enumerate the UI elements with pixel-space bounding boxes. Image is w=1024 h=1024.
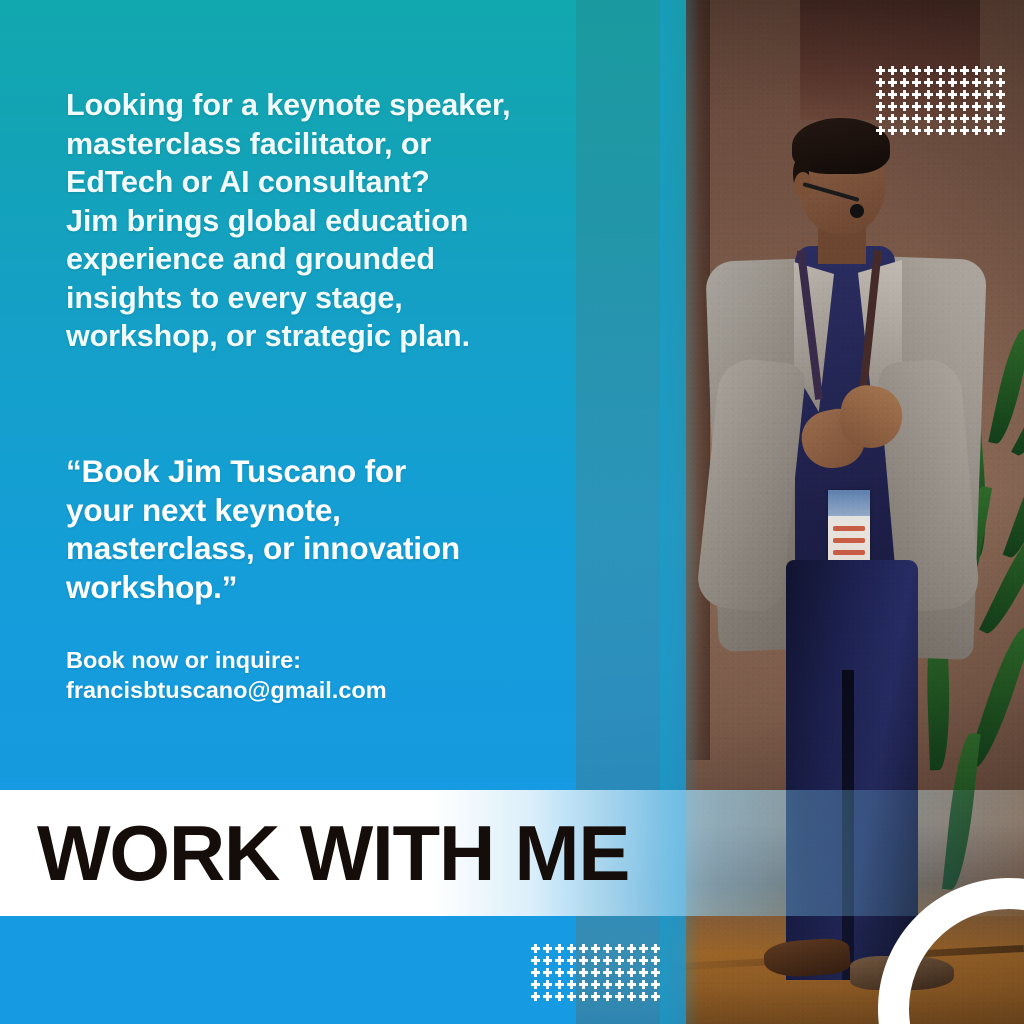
dot — [627, 980, 636, 989]
dot — [591, 944, 600, 953]
dot — [996, 78, 1005, 87]
dot — [567, 980, 576, 989]
dot — [924, 66, 933, 75]
dot — [543, 968, 552, 977]
dot — [972, 126, 981, 135]
dot — [936, 90, 945, 99]
dot — [579, 992, 588, 1001]
dot — [876, 126, 885, 135]
dot — [912, 78, 921, 87]
dot — [876, 78, 885, 87]
dot — [651, 968, 660, 977]
dot — [888, 126, 897, 135]
dot — [567, 944, 576, 953]
dot — [984, 126, 993, 135]
dot — [615, 968, 624, 977]
dot — [924, 114, 933, 123]
dot — [591, 992, 600, 1001]
dot — [627, 992, 636, 1001]
dot — [531, 956, 540, 965]
dot — [948, 114, 957, 123]
dot — [639, 968, 648, 977]
pull-quote-text: “Book Jim Tuscano for your next keynote,… — [66, 452, 626, 606]
dot — [639, 944, 648, 953]
dot — [603, 956, 612, 965]
dot-grid-bottom — [531, 944, 660, 1001]
dot — [972, 90, 981, 99]
dot — [543, 992, 552, 1001]
dot — [888, 90, 897, 99]
dot — [960, 126, 969, 135]
contact-cta-text: Book now or inquire: francisbtuscano@gma… — [66, 645, 586, 705]
dot — [567, 956, 576, 965]
dot — [591, 980, 600, 989]
dot — [591, 968, 600, 977]
dot — [876, 102, 885, 111]
dot — [984, 114, 993, 123]
dot — [972, 78, 981, 87]
dot — [531, 980, 540, 989]
dot — [936, 114, 945, 123]
dot — [900, 78, 909, 87]
dot — [615, 992, 624, 1001]
dot — [615, 956, 624, 965]
dot — [627, 968, 636, 977]
dot — [936, 78, 945, 87]
dot — [579, 956, 588, 965]
bottom-blue-strip — [0, 916, 576, 1024]
dot — [972, 66, 981, 75]
dot — [555, 980, 564, 989]
dot — [948, 90, 957, 99]
dot — [651, 992, 660, 1001]
dot — [984, 66, 993, 75]
dot — [639, 980, 648, 989]
dot — [912, 102, 921, 111]
dot — [960, 90, 969, 99]
dot — [531, 968, 540, 977]
banner-title-text: WORK WITH ME — [37, 790, 1017, 916]
dot — [996, 90, 1005, 99]
dot — [996, 114, 1005, 123]
dot-grid-top — [876, 66, 1005, 135]
dot — [888, 114, 897, 123]
dot — [591, 956, 600, 965]
dot — [567, 968, 576, 977]
dot — [936, 66, 945, 75]
dot — [603, 944, 612, 953]
dot — [639, 992, 648, 1001]
dot — [543, 944, 552, 953]
dot — [948, 78, 957, 87]
dot — [579, 980, 588, 989]
dot — [876, 114, 885, 123]
dot — [543, 956, 552, 965]
dot — [984, 78, 993, 87]
dot — [651, 980, 660, 989]
dot — [936, 126, 945, 135]
dot — [972, 102, 981, 111]
dot — [948, 126, 957, 135]
dot — [912, 66, 921, 75]
dot — [900, 66, 909, 75]
dot — [996, 102, 1005, 111]
dot — [603, 968, 612, 977]
dot — [912, 114, 921, 123]
dot — [651, 956, 660, 965]
dot — [912, 126, 921, 135]
dot — [627, 944, 636, 953]
dot — [639, 956, 648, 965]
dot — [972, 114, 981, 123]
dot — [531, 992, 540, 1001]
dot — [900, 90, 909, 99]
dot — [531, 944, 540, 953]
dot — [876, 66, 885, 75]
dot — [876, 90, 885, 99]
promotional-poster: Looking for a keynote speaker, mastercla… — [0, 0, 1024, 1024]
dot — [555, 968, 564, 977]
dot — [924, 90, 933, 99]
dot — [888, 78, 897, 87]
dot — [924, 78, 933, 87]
dot — [651, 944, 660, 953]
dot — [579, 944, 588, 953]
dot — [996, 126, 1005, 135]
dot — [996, 66, 1005, 75]
dot — [567, 992, 576, 1001]
dot — [888, 66, 897, 75]
dot — [627, 956, 636, 965]
dot — [603, 992, 612, 1001]
dot — [555, 992, 564, 1001]
dot — [924, 102, 933, 111]
dot — [555, 956, 564, 965]
dot — [960, 114, 969, 123]
dot — [543, 980, 552, 989]
dot — [948, 66, 957, 75]
dot — [948, 102, 957, 111]
dot — [960, 102, 969, 111]
dot — [984, 90, 993, 99]
dot — [900, 114, 909, 123]
dot — [912, 90, 921, 99]
dot — [615, 980, 624, 989]
dot — [555, 944, 564, 953]
dot — [888, 102, 897, 111]
dot — [900, 126, 909, 135]
headline-text: Looking for a keynote speaker, mastercla… — [66, 86, 586, 356]
dot — [960, 78, 969, 87]
dot — [615, 944, 624, 953]
dot — [936, 102, 945, 111]
dot — [924, 126, 933, 135]
dot — [579, 968, 588, 977]
dot — [900, 102, 909, 111]
dot — [603, 980, 612, 989]
dot — [984, 102, 993, 111]
dot — [960, 66, 969, 75]
